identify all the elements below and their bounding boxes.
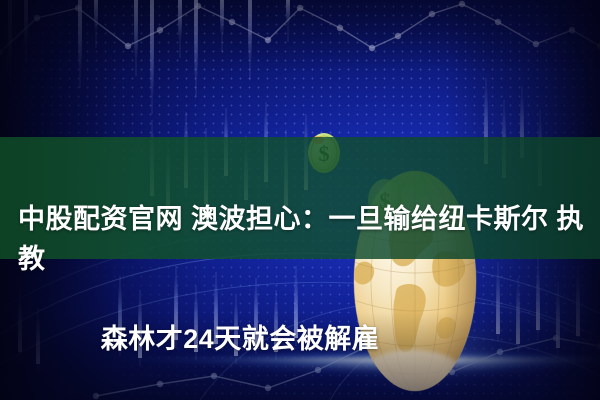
candlestick-wick [136, 0, 137, 76]
headline-line-2: 森林才24天就会被解雇 [0, 319, 600, 359]
trend-line-marker [0, 49, 3, 55]
trend-line-marker [459, 1, 465, 7]
candlestick-wick [80, 0, 81, 88]
trend-line-marker [75, 5, 81, 11]
candlestick-bar [178, 0, 182, 40]
trend-line-marker [125, 43, 131, 49]
candlestick-bar [150, 0, 154, 96]
candlestick-wick [10, 0, 11, 84]
candlestick-bar [8, 0, 12, 66]
trend-line-marker [229, 19, 235, 25]
candlestick-wick [196, 0, 197, 96]
trend-line-marker [195, 3, 201, 9]
trend-line-marker [569, 27, 575, 33]
trend-line-marker [265, 37, 271, 43]
trend-line-marker [495, 19, 501, 25]
candlestick-bar [78, 0, 82, 70]
trend-line-marker [34, 15, 40, 21]
candlestick-wick [288, 0, 289, 42]
trend-line-marker [369, 45, 375, 51]
page-title: 中股配资官网 澳波担心：一旦输给纽卡斯尔 执教 森林才24天就会被解雇 [0, 159, 600, 399]
candlestick-bar [94, 0, 98, 30]
candlestick-bar [248, 0, 252, 62]
candlestick-bar [24, 0, 28, 44]
candlestick-bar [194, 0, 198, 78]
trend-line-marker [337, 25, 343, 31]
candlestick-wick [222, 0, 223, 52]
trend-line [0, 4, 600, 52]
trend-line-marker [533, 41, 539, 47]
candlestick-wick [26, 0, 27, 62]
banner-image: $ $ 中股配资官网 澳波担心：一旦输给纽卡斯尔 执教 森林才24天就会被解雇 [0, 0, 600, 400]
headline-line-1: 中股配资官网 澳波担心：一旦输给纽卡斯尔 执教 [0, 199, 600, 279]
trend-line-marker [395, 33, 401, 39]
trend-line-marker [157, 27, 163, 33]
trend-line-marker [297, 5, 303, 11]
candlestick-wick [250, 0, 251, 80]
candlestick-bar [220, 0, 224, 34]
candlestick-wick [152, 0, 153, 114]
trend-line-marker [429, 11, 435, 17]
candlestick-bar [134, 0, 138, 58]
candlestick-wick [96, 0, 97, 48]
candlestick-bar [286, 0, 290, 24]
candlestick-wick [180, 0, 181, 58]
